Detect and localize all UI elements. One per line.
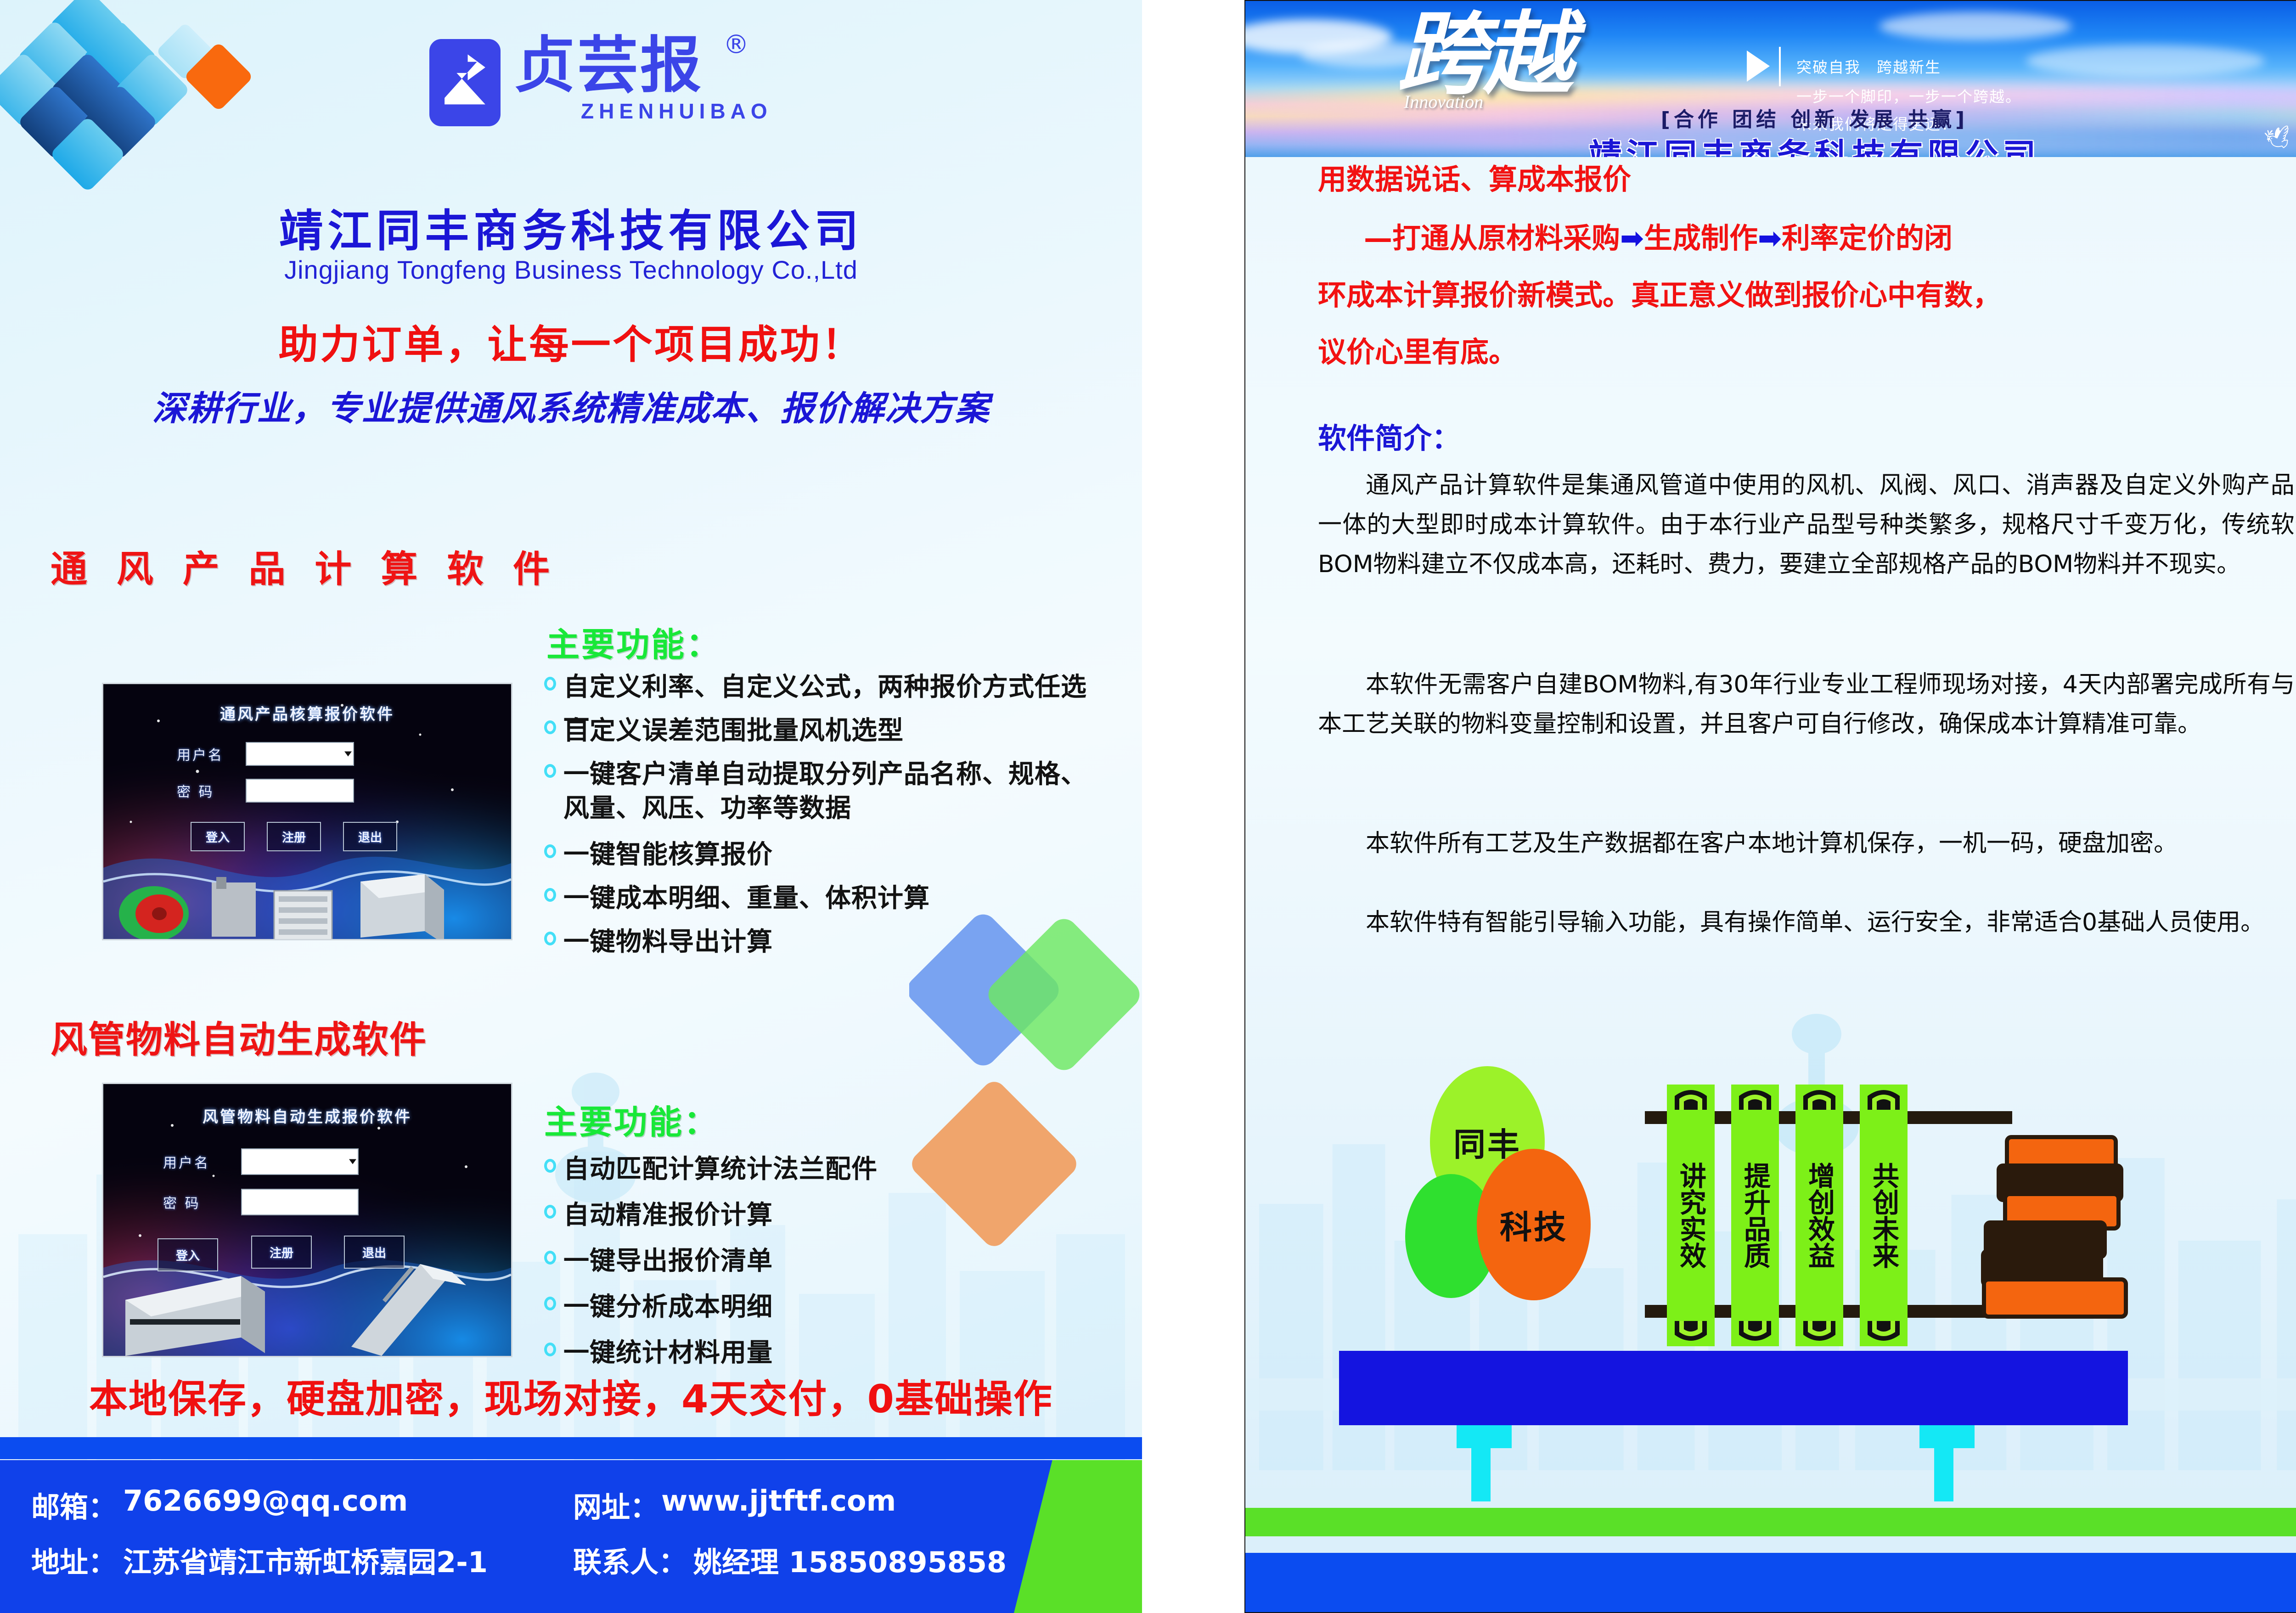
scroll-text-3: 增创效益 <box>1803 1113 1836 1318</box>
intro-paragraph: 本软件所有工艺及生产数据都在客户本地计算机保存，一机一码，硬盘加密。 <box>1318 824 2296 863</box>
feature-item: 一键分析成本明细 <box>563 1290 773 1324</box>
email-label: 邮箱： <box>31 1484 117 1525</box>
scroll-banner-4: 共创未来 <box>1860 1085 1908 1346</box>
scroll-ornament-bottom <box>1731 1318 1779 1346</box>
cloud-shape <box>1879 12 2072 40</box>
software-screenshot-1: 通风产品核算报价软件 用户名 密 码 登入 注册 退出 <box>102 683 512 940</box>
bullet-icon <box>544 1251 556 1265</box>
screenshot-title-1: 通风产品核算报价软件 <box>103 702 511 724</box>
intro-paragraph: 本软件特有智能引导输入功能，具有操作简单、运行安全，非常适合0基础人员使用。 <box>1318 903 2296 942</box>
bench-top <box>1339 1351 2128 1425</box>
scroll-ornament-icon <box>1673 1087 1709 1111</box>
register-button-2[interactable]: 注册 <box>251 1236 312 1269</box>
logo-text-en: ZHENHUIBAO <box>581 99 772 124</box>
scroll-banner-3: 增创效益 <box>1795 1085 1843 1346</box>
scroll-ornament-icon <box>1737 1087 1773 1111</box>
feature-item: 自动匹配计算统计法兰配件 <box>563 1152 878 1186</box>
scroll-ornament-top <box>1667 1085 1715 1113</box>
feature-item: 一键客户清单自动提取分列产品名称、规格、风量、风压、功率等数据 <box>563 758 1102 826</box>
scroll-banner-1: 讲究实效 <box>1667 1085 1715 1346</box>
website-value[interactable]: www.jjtftf.com <box>661 1484 896 1517</box>
contact-label: 联系人： <box>573 1539 687 1580</box>
hero-tagline-1: 突破自我 跨越新生 <box>1796 55 1941 77</box>
intro-heading: 软件简介： <box>1318 415 1460 456</box>
bullet-icon <box>544 844 556 858</box>
features-heading-1: 主要功能： <box>546 618 721 666</box>
logo-arrow-glyph <box>437 47 493 118</box>
bottom-highlight-text: 本地保存，硬盘加密，现场对接，4天交付，0基础操作 <box>0 1368 1142 1424</box>
headline-line-2: —打通从原材料采购➡生成制作➡利率定价的闭 <box>1364 224 1953 253</box>
scroll-banner-2: 提升品质 <box>1731 1085 1779 1346</box>
scroll-ornament-icon <box>1673 1320 1709 1344</box>
scroll-ornament-bottom <box>1667 1318 1715 1346</box>
scroll-ornament-icon <box>1801 1320 1837 1344</box>
book-orange-3 <box>1982 1277 2128 1319</box>
bench-leg-cap-right <box>1919 1425 1975 1448</box>
bullet-icon <box>544 764 556 778</box>
scroll-text-1: 讲究实效 <box>1674 1113 1707 1318</box>
section-title-2: 风管物料自动生成软件 <box>51 1010 427 1063</box>
logo-block: 贞芸报 ® ZHENHUIBAO <box>429 25 769 131</box>
bullet-icon <box>544 720 556 734</box>
bench-leg-cap-left <box>1457 1425 1512 1448</box>
exit-button-2[interactable]: 退出 <box>344 1236 405 1269</box>
bullet-icon <box>544 888 556 902</box>
slogan-primary: 助力订单，让每一个项目成功！ <box>0 312 1142 370</box>
username-label-2: 用户名 <box>163 1152 241 1172</box>
right-content-body: 用数据说话、算成本报价 —打通从原材料采购➡生成制作➡利率定价的闭 环成本计算报… <box>1245 157 2296 1470</box>
diamond-cluster-decoration <box>0 0 280 204</box>
bullet-icon <box>544 1205 556 1219</box>
headline-line-2b: 生成制作 <box>1644 221 1758 255</box>
company-name-en: Jingjiang Tongfeng Business Technology C… <box>0 255 1142 285</box>
intro-paragraph: 本软件无需客户自建BOM物料,有30年行业专业工程师现场对接，4天内部署完成所有… <box>1318 665 2296 744</box>
feature-item: 一键智能核算报价 <box>563 838 773 872</box>
bullet-icon <box>544 677 556 691</box>
feature-item: 一键成本明细、重量、体积计算 <box>563 882 930 916</box>
slogan-secondary: 深耕行业，专业提供通风系统精准成本、报价解决方案 <box>0 381 1142 430</box>
hero-big-character: 跨越 <box>1397 9 1570 99</box>
register-button-1[interactable]: 注册 <box>267 822 321 851</box>
ellipse-keji-label: 科技 <box>1500 1202 1568 1248</box>
chevron-down-icon[interactable] <box>344 752 352 757</box>
login-button-1[interactable]: 登入 <box>191 822 245 851</box>
section-title-1: 通 风 产 品 计 算 软 件 <box>51 540 558 593</box>
scroll-ornament-top <box>1731 1085 1779 1113</box>
hero-company-name: 靖江同丰商务科技有限公司 <box>1245 129 2296 157</box>
scroll-ornament-bottom <box>1860 1318 1908 1346</box>
feature-item: 自动精准报价计算 <box>563 1198 773 1232</box>
website-label: 网址： <box>573 1484 658 1525</box>
logo-registered-mark: ® <box>723 30 749 60</box>
password-input-1[interactable] <box>246 779 354 803</box>
bullet-icon <box>544 1159 556 1173</box>
poster-page: 贞芸报 ® ZHENHUIBAO 靖江同丰商务科技有限公司 Jingjiang … <box>0 0 2296 1613</box>
headline-line-3: 环成本计算报价新模式。真正意义做到报价心中有数， <box>1318 281 2001 309</box>
headline-line-2c: 利率定价的闭 <box>1782 221 1953 255</box>
bullet-icon <box>544 1297 556 1310</box>
hero-motto: [合作 团结 创新 发展 共赢] <box>1245 103 2296 132</box>
username-input-2[interactable] <box>241 1148 359 1175</box>
headline-line-2a: —打通从原材料采购 <box>1364 221 1620 255</box>
password-label-2: 密 码 <box>163 1192 241 1212</box>
login-button-2[interactable]: 登入 <box>158 1238 218 1271</box>
intro-paragraph: 通风产品计算软件是集通风管道中使用的风机、风阀、风口、消声器及自定义外购产品于一… <box>1318 466 2296 584</box>
bullet-icon <box>544 1343 556 1356</box>
right-flyer-page: 跨越 Innovation 突破自我 跨越新生 一步一个脚印，一步一个跨越。 未… <box>1244 0 2296 1613</box>
bullet-icon <box>544 932 556 945</box>
ellipse-keji: 科技 <box>1477 1149 1591 1300</box>
footer-green-wedge <box>1000 1460 1142 1613</box>
bench-leg-right <box>1934 1447 1953 1501</box>
scroll-text-4: 共创未来 <box>1867 1113 1900 1318</box>
footer-blue-strip <box>1245 1553 2296 1613</box>
email-value[interactable]: 7626699@qq.com <box>123 1484 408 1517</box>
footer-green-strip <box>1245 1508 2296 1536</box>
screenshot-title-2: 风管物料自动生成报价软件 <box>103 1104 511 1127</box>
play-triangle-icon <box>1747 51 1770 82</box>
zhenhuibao-logo-icon <box>429 39 501 126</box>
address-value: 江苏省靖江市新虹桥嘉园2-1 <box>123 1539 488 1580</box>
scroll-ornament-top <box>1860 1085 1908 1113</box>
scroll-ornament-bottom <box>1795 1318 1843 1346</box>
username-input-1[interactable] <box>246 742 354 766</box>
left-flyer-page: 贞芸报 ® ZHENHUIBAO 靖江同丰商务科技有限公司 Jingjiang … <box>0 0 1142 1613</box>
password-label-1: 密 码 <box>177 781 246 801</box>
arrow-right-icon: ➡ <box>1758 221 1782 255</box>
scroll-text-2: 提升品质 <box>1739 1113 1772 1318</box>
chevron-down-icon[interactable] <box>349 1159 356 1164</box>
scroll-ornament-top <box>1795 1085 1843 1113</box>
arrow-right-icon: ➡ <box>1620 221 1644 255</box>
address-label: 地址： <box>31 1539 117 1580</box>
contact-value[interactable]: 姚经理 15850895858 <box>693 1539 1007 1580</box>
scroll-ornament-icon <box>1866 1087 1902 1111</box>
software-screenshot-2: 风管物料自动生成报价软件 用户名 密 码 登入 注册 退出 <box>102 1083 512 1357</box>
contact-footer: 邮箱： 7626699@qq.com 网址： www.jjtftf.com 地址… <box>0 1460 1142 1613</box>
headline-line-4: 议价心里有底。 <box>1318 338 1517 366</box>
hero-banner: 跨越 Innovation 突破自我 跨越新生 一步一个脚印，一步一个跨越。 未… <box>1245 1 2296 157</box>
feature-item: 一键统计材料用量 <box>563 1336 773 1370</box>
feature-item: 一键物料导出计算 <box>563 925 773 959</box>
bench-leg-left <box>1471 1447 1491 1501</box>
feature-item: 自定义误差范围批量风机选型 <box>563 714 904 748</box>
features-heading-2: 主要功能： <box>544 1095 719 1143</box>
scroll-ornament-icon <box>1737 1320 1773 1344</box>
scroll-ornament-icon <box>1866 1320 1902 1344</box>
password-input-2[interactable] <box>241 1189 359 1215</box>
scroll-ornament-icon <box>1801 1087 1837 1111</box>
headline-line-1: 用数据说话、算成本报价 <box>1318 165 1631 194</box>
company-name-cn: 靖江同丰商务科技有限公司 <box>0 195 1142 259</box>
vertical-rule-divider <box>1779 47 1781 86</box>
cloud-shape <box>2026 45 2265 77</box>
feature-item: 一键导出报价清单 <box>563 1244 773 1278</box>
username-label-1: 用户名 <box>177 744 246 764</box>
exit-button-1[interactable]: 退出 <box>343 822 397 851</box>
logo-text-cn: 贞芸报 <box>514 35 703 96</box>
divider-bar-blue <box>0 1437 1142 1459</box>
